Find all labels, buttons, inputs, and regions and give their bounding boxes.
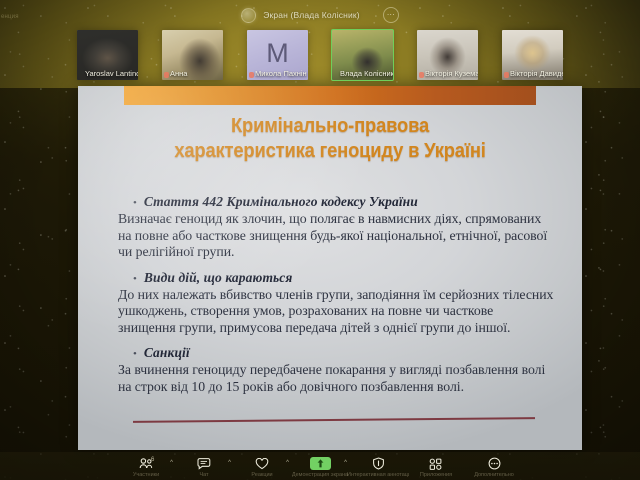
slide-title-line-1: Кримінально-правова <box>98 114 562 139</box>
participant-name: Вікторія Кузема <box>417 68 478 80</box>
toolbar-more-button[interactable]: Дополнительно <box>465 452 523 478</box>
avatar-letter: M <box>266 40 289 67</box>
slide-heading: Санкції <box>144 345 190 361</box>
participant-tile[interactable]: Анна <box>162 30 223 80</box>
slide-title-line-2: характеристика геноциду в Україні <box>98 139 562 164</box>
toolbar-apps-button[interactable]: Приложения <box>407 452 465 478</box>
slide-body: • Стаття 442 Кримінального кодексу Украї… <box>118 194 554 395</box>
reactions-heart-icon <box>255 456 269 471</box>
participant-tile[interactable]: Вікторія Давиденко <box>502 30 563 80</box>
participant-sublabel: Київ, Україна <box>86 79 113 80</box>
bullet-dot-icon: • <box>133 274 137 285</box>
toolbar-label: Демонстрация экрана <box>292 472 348 478</box>
participant-tile-active-speaker[interactable]: Влада Колісник <box>332 30 393 80</box>
toolbar-label: Приложения <box>420 472 452 478</box>
participant-tile[interactable]: M Микола Пахнін <box>247 30 308 80</box>
slide-heading: Види дій, що караються <box>144 270 293 286</box>
more-icon <box>488 456 501 471</box>
participant-tile[interactable]: Yaroslav Lantinov Київ, Україна <box>77 30 138 80</box>
participants-count-badge: 6 <box>151 457 154 463</box>
chevron-up-icon[interactable]: ^ <box>344 460 347 466</box>
participant-name: Вікторія Давиденко <box>502 68 563 80</box>
slide-paragraph: До них належать вбивство членів групи, з… <box>118 287 554 337</box>
slide-bullet: • Види дій, що караються <box>133 270 554 286</box>
chevron-up-icon[interactable]: ^ <box>170 460 173 466</box>
slide-canvas: Кримінально-правова характеристика геноц… <box>78 86 582 450</box>
participant-filmstrip: Yaroslav Lantinov Київ, Україна Анна M М… <box>0 30 640 86</box>
screen-share-label: Экран (Влада Колісник) <box>263 10 359 20</box>
toolbar-chat-button[interactable]: ^ Чат <box>175 452 233 478</box>
participant-name: Анна <box>162 68 223 80</box>
chevron-up-icon[interactable]: ^ <box>228 460 231 466</box>
slide-bullet: • Санкції <box>133 345 554 361</box>
participant-name: Влада Колісник <box>332 68 393 80</box>
share-screen-active-box[interactable] <box>310 457 331 470</box>
shared-slide: Кримінально-правова характеристика геноц… <box>78 86 582 450</box>
toolbar-label: Реакции <box>251 472 272 478</box>
toolbar-reactions-button[interactable]: ^ Реакции <box>233 452 291 478</box>
screen-share-banner: Экран (Влада Колісник) ··· <box>0 4 640 26</box>
toolbar-label: Участники <box>133 472 159 478</box>
more-options-icon[interactable]: ··· <box>383 7 399 23</box>
slide-heading: Стаття 442 Кримінального кодексу України <box>144 194 418 210</box>
slide-accent-bar <box>124 86 536 105</box>
participant-name: Микола Пахнін <box>247 68 308 80</box>
toolbar-label: Чат <box>199 472 208 478</box>
toolbar-share-screen-button[interactable]: ^ Демонстрация экрана <box>291 452 349 478</box>
share-screen-icon <box>310 456 331 471</box>
screen-share-status-icon <box>241 8 256 23</box>
chat-icon <box>197 456 212 471</box>
slide-title: Кримінально-правова характеристика геноц… <box>98 114 562 164</box>
bullet-dot-icon: • <box>133 198 137 209</box>
participant-tile[interactable]: Вікторія Кузема <box>417 30 478 80</box>
toolbar-label: Интерактивная аннотация <box>347 472 409 478</box>
slide-bullet: • Стаття 442 Кримінального кодексу Украї… <box>133 194 554 210</box>
toolbar-participants-button[interactable]: 6 ^ Участники <box>117 452 175 478</box>
toolbar-security-button[interactable]: Интерактивная аннотация <box>349 452 407 478</box>
toolbar-label: Дополнительно <box>474 472 514 478</box>
screen-share-view: енция Экран (Влада Колісник) ··· Yarosla… <box>0 0 640 480</box>
bullet-dot-icon: • <box>133 349 137 360</box>
security-shield-icon <box>372 456 385 471</box>
apps-icon <box>429 456 443 471</box>
slide-divider-rule <box>133 417 535 422</box>
chevron-up-icon[interactable]: ^ <box>286 460 289 466</box>
meeting-toolbar: 6 ^ Участники ^ Чат ^ Реакции <box>0 452 640 480</box>
slide-paragraph: За вчинення геноциду передбачене покаран… <box>118 362 554 395</box>
slide-paragraph: Визначає геноцид як злочин, що полягає в… <box>118 211 554 261</box>
